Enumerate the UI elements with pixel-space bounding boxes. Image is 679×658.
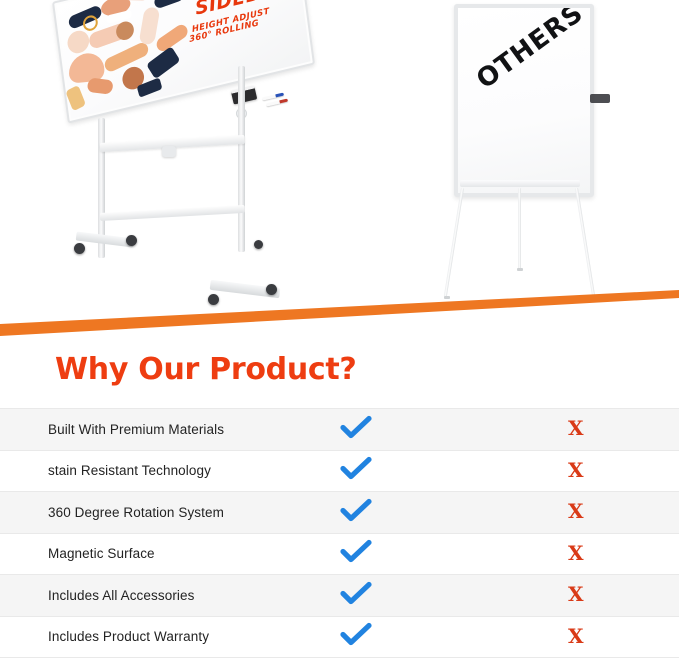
feature-label: Includes Product Warranty [0, 616, 318, 658]
caster-wheel-icon [254, 240, 263, 249]
feature-label: Includes All Accessories [0, 575, 318, 617]
cross-icon: X [568, 626, 584, 646]
other-product-cell: X [530, 492, 679, 534]
easel-leg-right [575, 188, 595, 297]
our-product-cell [318, 409, 530, 451]
caster-wheel-icon [74, 243, 85, 254]
other-product-cell: X [530, 575, 679, 617]
easel-leg-left [444, 188, 464, 297]
cross-icon: X [568, 543, 584, 563]
feature-label: Built With Premium Materials [0, 409, 318, 451]
cross-icon: X [568, 501, 584, 521]
other-product-cell: X [530, 616, 679, 658]
page-title: Why Our Product? [55, 352, 357, 387]
checkmark-icon [340, 415, 372, 439]
comparison-table: Built With Premium MaterialsXstain Resis… [0, 408, 679, 658]
table-row: Includes All AccessoriesX [0, 575, 679, 617]
feature-label: 360 Degree Rotation System [0, 492, 318, 534]
feature-label: Magnetic Surface [0, 533, 318, 575]
our-product-cell [318, 616, 530, 658]
checkmark-icon [340, 539, 372, 563]
left-product-our-whiteboard: DOUBLE SIDED HEIGHT ADJUST 360° ROLLING [60, 0, 350, 330]
cross-icon: X [568, 418, 584, 438]
our-product-cell [318, 450, 530, 492]
checkmark-icon [340, 622, 372, 646]
caster-wheel-icon [126, 235, 137, 246]
right-product-others-whiteboard: OTHERS [440, 4, 640, 304]
easel-foot-center [517, 268, 523, 271]
feature-label: stain Resistant Technology [0, 450, 318, 492]
other-product-cell: X [530, 450, 679, 492]
table-row: Magnetic SurfaceX [0, 533, 679, 575]
other-product-cell: X [530, 409, 679, 451]
left-whiteboard-panel: DOUBLE SIDED HEIGHT ADJUST 360° ROLLING [52, 0, 315, 124]
table-row: stain Resistant TechnologyX [0, 450, 679, 492]
stand-post-right [238, 66, 245, 252]
checkmark-icon [340, 581, 372, 605]
table-row: 360 Degree Rotation SystemX [0, 492, 679, 534]
right-whiteboard-panel: OTHERS [454, 4, 594, 197]
easel-foot-left [444, 296, 450, 299]
checkmark-icon [340, 456, 372, 480]
our-product-cell [318, 492, 530, 534]
easel-foot-right [591, 296, 597, 299]
our-product-cell [318, 575, 530, 617]
easel-leg-center [518, 188, 521, 270]
cross-icon: X [568, 584, 584, 604]
checkmark-icon [340, 498, 372, 522]
right-board-tray [460, 180, 580, 187]
height-adjust-knob [162, 146, 176, 157]
caster-wheel-icon [208, 294, 219, 305]
other-product-cell: X [530, 533, 679, 575]
our-product-cell [318, 533, 530, 575]
product-hero-image: DOUBLE SIDED HEIGHT ADJUST 360° ROLLING … [0, 0, 679, 340]
cross-icon: X [568, 460, 584, 480]
red-marker-icon [266, 99, 288, 107]
stand-rail-middle [100, 205, 245, 221]
right-board-eraser-icon [590, 94, 610, 103]
caster-wheel-icon [266, 284, 277, 295]
table-row: Includes Product WarrantyX [0, 616, 679, 658]
table-row: Built With Premium MaterialsX [0, 409, 679, 451]
